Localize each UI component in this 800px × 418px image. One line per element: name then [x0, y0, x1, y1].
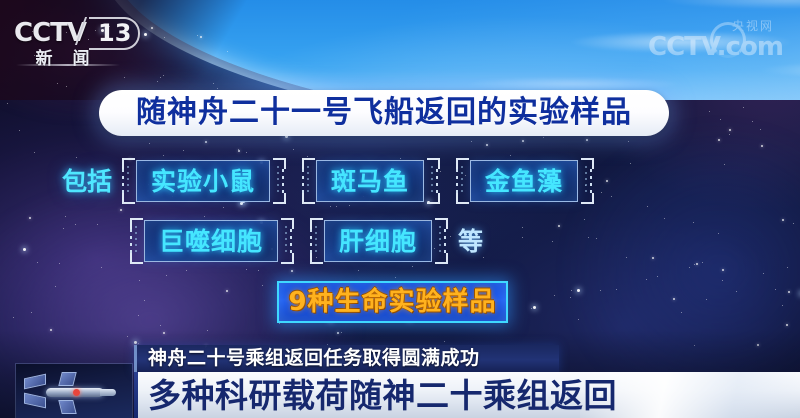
star: [163, 332, 165, 334]
sample-chip-label: 巨噬细胞: [159, 229, 263, 254]
star: [149, 143, 150, 144]
star: [724, 164, 725, 165]
star: [66, 86, 67, 87]
logo-underline: [16, 64, 120, 66]
spacecraft-inset-image: [16, 364, 132, 418]
star: [336, 206, 337, 207]
bracket-left-icon: [310, 218, 321, 264]
star: [775, 289, 776, 290]
star: [793, 223, 794, 224]
items-row-1: 包括 实验小鼠 斑马鱼 金鱼藻: [62, 158, 592, 204]
lead-label: 包括: [62, 169, 112, 194]
tail-label: 等: [458, 229, 483, 254]
star: [223, 207, 224, 208]
star: [596, 238, 597, 239]
star: [601, 192, 602, 193]
star: [183, 150, 184, 151]
star: [31, 312, 32, 313]
bracket-left-icon: [302, 158, 313, 204]
star: [7, 103, 8, 104]
star: [164, 37, 165, 38]
star: [646, 279, 647, 280]
star: [689, 267, 690, 268]
star: [531, 308, 532, 309]
star: [349, 205, 350, 206]
lower-third-kicker-edge: [134, 345, 137, 372]
star: [693, 222, 694, 223]
graphic-title-pill: 随神舟二十一号飞船返回的实验样品: [99, 90, 669, 136]
star: [743, 107, 744, 108]
sample-chip-label: 肝细胞: [339, 229, 417, 254]
star: [63, 228, 64, 229]
star: [761, 145, 763, 147]
star: [120, 209, 122, 211]
star: [630, 163, 631, 164]
star: [763, 273, 764, 274]
watermark-ring-icon: [710, 22, 746, 58]
lower-third-headline-bar: 多种科研载荷随神二十乘组返回: [134, 372, 800, 418]
star: [718, 233, 719, 234]
star: [97, 224, 98, 225]
star: [124, 77, 125, 78]
star: [616, 289, 617, 290]
logo-row: CCTV 13: [14, 18, 126, 48]
bracket-left-icon: [456, 158, 467, 204]
highlight-text: 9种生命实验样品: [288, 289, 496, 315]
sample-chip: 斑马鱼: [302, 158, 438, 204]
sample-chip: 巨噬细胞: [130, 218, 292, 264]
star: [134, 341, 137, 344]
sample-chip-box: 巨噬细胞: [144, 220, 278, 262]
star: [718, 139, 720, 141]
star: [786, 324, 788, 326]
sample-chip-label: 实验小鼠: [151, 169, 255, 194]
bracket-left-icon: [130, 218, 141, 264]
highlight-box: 9种生命实验样品: [277, 281, 508, 323]
star: [186, 270, 187, 271]
star: [510, 155, 511, 156]
bracket-left-icon: [122, 158, 133, 204]
sample-chip: 金鱼藻: [456, 158, 592, 204]
sample-chip-box: 金鱼藻: [470, 160, 578, 202]
sample-chip-label: 斑马鱼: [331, 169, 409, 194]
star: [238, 150, 240, 152]
lower-third-headline-text: 多种科研载荷随神二十乘组返回: [134, 379, 617, 412]
star: [757, 344, 759, 346]
lower-third-kicker-bar: 神舟二十号乘组返回任务取得圆满成功: [134, 345, 559, 372]
sample-chip-label: 金鱼藻: [485, 169, 563, 194]
cctv-watermark: 央视网 CCTV.com: [648, 20, 780, 64]
sample-chip: 肝细胞: [310, 218, 446, 264]
sample-chip-box: 肝细胞: [324, 220, 432, 262]
broadcast-screen: CCTV 13 新 闻 央视网 CCTV.com 随神舟二十一号飞船返回的实验样…: [0, 0, 800, 418]
star: [207, 330, 208, 331]
star: [19, 130, 20, 131]
star: [144, 33, 147, 36]
star: [144, 300, 145, 301]
star: [760, 129, 761, 130]
sample-chip-box: 实验小鼠: [136, 160, 270, 202]
star: [706, 299, 707, 300]
graphic-title-text: 随神舟二十一号飞船返回的实验样品: [136, 98, 632, 128]
star: [584, 219, 585, 220]
sample-chip-box: 斑马鱼: [316, 160, 424, 202]
star: [246, 269, 247, 270]
bracket-right-icon: [427, 158, 438, 204]
star: [34, 152, 35, 153]
star: [486, 144, 488, 146]
star: [782, 219, 784, 221]
star: [65, 216, 66, 217]
star: [262, 285, 263, 286]
bracket-right-icon: [435, 218, 446, 264]
items-row-2: 巨噬细胞 肝细胞 等: [130, 218, 483, 264]
channel-logo: CCTV 13 新 闻: [14, 18, 126, 70]
star: [694, 264, 695, 265]
sample-chip: 实验小鼠: [122, 158, 284, 204]
logo-channel-number: 13: [89, 17, 140, 50]
star: [570, 297, 571, 298]
star: [702, 262, 703, 263]
star: [694, 345, 695, 346]
bracket-right-icon: [581, 158, 592, 204]
lower-third-kicker-text: 神舟二十号乘组返回任务取得圆满成功: [134, 349, 480, 368]
star: [37, 262, 38, 263]
star: [291, 270, 293, 272]
star: [444, 341, 445, 342]
star: [782, 305, 783, 306]
star: [75, 224, 76, 225]
star: [163, 75, 164, 76]
bracket-right-icon: [281, 218, 292, 264]
star: [554, 295, 555, 296]
star: [293, 149, 294, 150]
star: [652, 257, 654, 259]
bracket-right-icon: [273, 158, 284, 204]
